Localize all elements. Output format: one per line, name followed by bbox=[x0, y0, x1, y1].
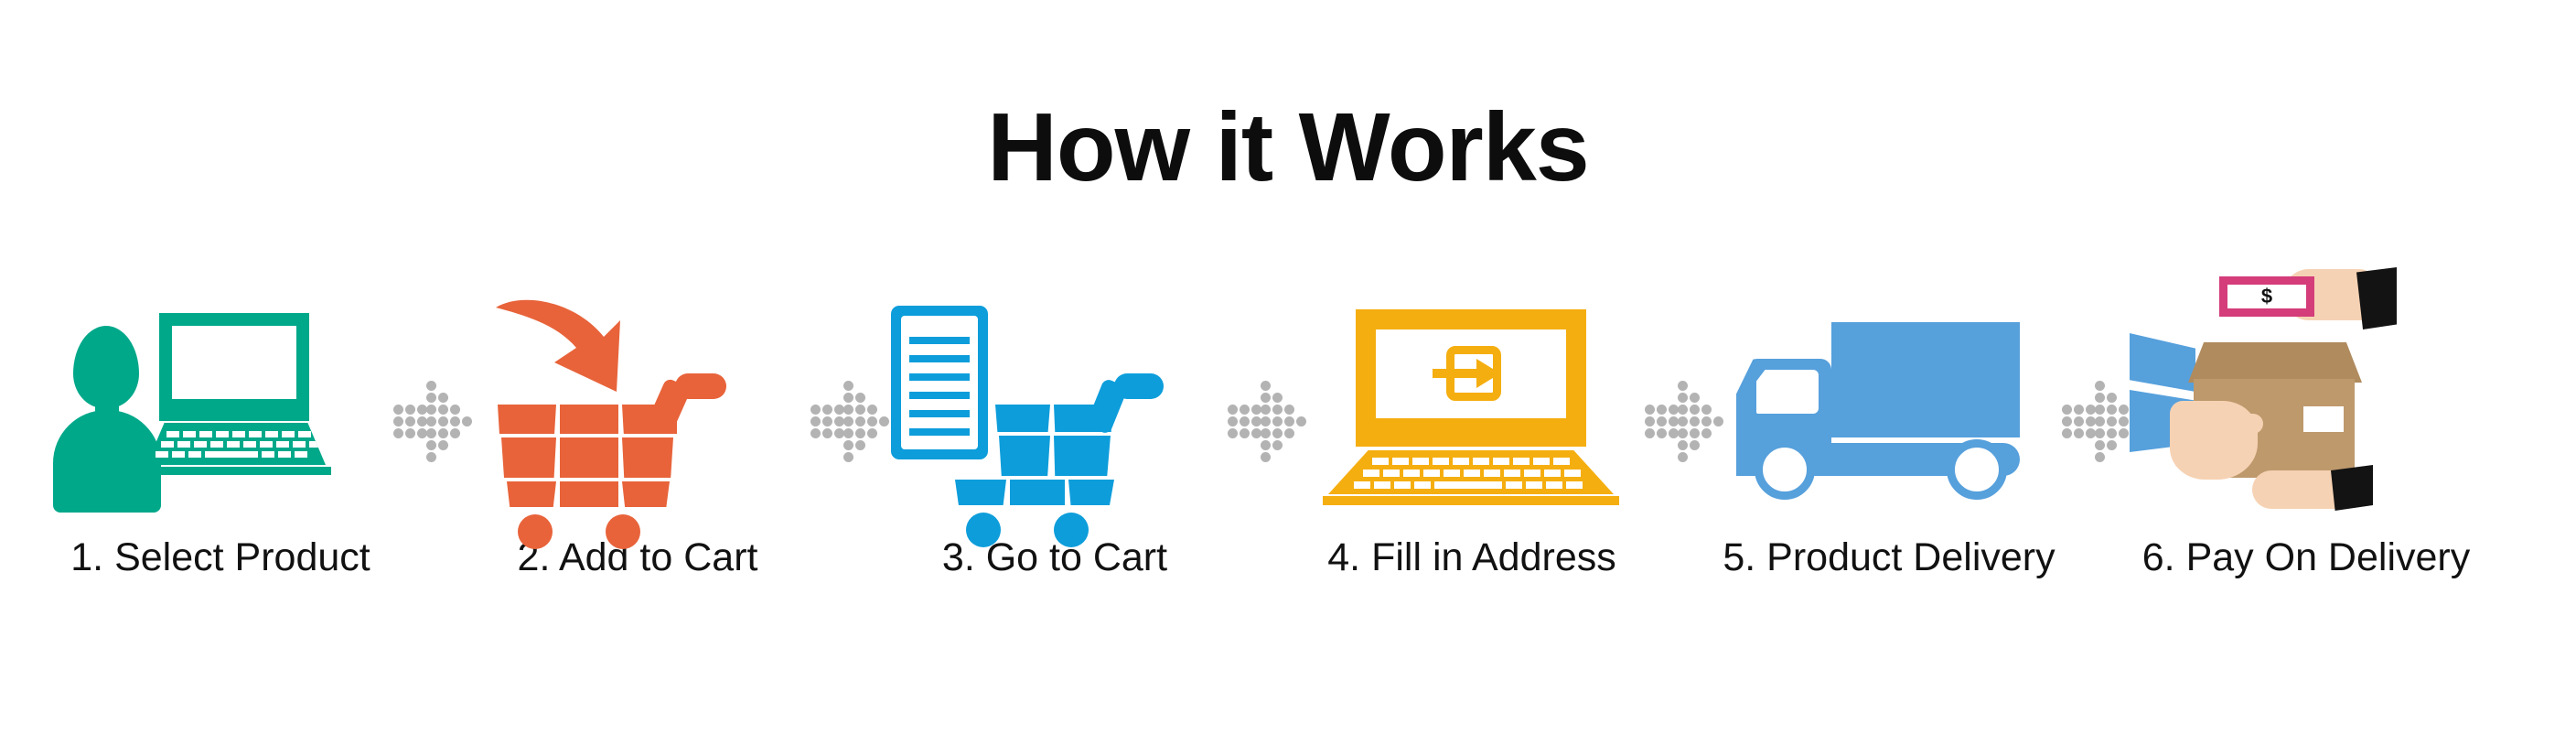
step-6-label: 6. Pay On Delivery bbox=[2142, 538, 2470, 578]
cart-basket-cell bbox=[622, 481, 670, 507]
cart-basket-cell bbox=[995, 405, 1050, 432]
left-hand-thumb bbox=[2212, 414, 2263, 434]
laptop-keyboard-shape bbox=[1328, 450, 1614, 494]
step-3-artwork bbox=[885, 302, 1224, 513]
left-hand-shape bbox=[2170, 401, 2258, 480]
hands-exchanging-box-and-money-icon: $ bbox=[2137, 271, 2475, 527]
dotted-right-arrow-icon bbox=[1645, 381, 1718, 452]
dotted-right-arrow-icon bbox=[810, 381, 884, 452]
document-text-line bbox=[909, 355, 970, 362]
step-1-select-product[interactable]: 1. Select Product bbox=[51, 302, 390, 578]
step-4-artwork bbox=[1303, 302, 1641, 513]
cart-basket-cell bbox=[560, 481, 618, 507]
separator-5 bbox=[2058, 302, 2137, 513]
cart-basket-cell bbox=[955, 480, 1006, 505]
step-6-artwork: $ bbox=[2137, 302, 2475, 513]
laptop-screen-shape bbox=[172, 326, 296, 399]
laptop-base-shape bbox=[1323, 496, 1619, 505]
step-2-label: 2. Add to Cart bbox=[518, 538, 758, 578]
separator-4 bbox=[1641, 302, 1720, 513]
laptop-with-login-arrow-icon bbox=[1303, 302, 1641, 513]
currency-symbol: $ bbox=[2261, 286, 2272, 307]
page-title: How it Works bbox=[0, 95, 2576, 200]
keyboard-row bbox=[1363, 470, 1581, 477]
step-5-artwork bbox=[1720, 302, 2058, 513]
step-6-pay-on-delivery[interactable]: $ 6. Pay On Delivery bbox=[2137, 302, 2475, 578]
step-2-add-to-cart[interactable]: 2. Add to Cart bbox=[468, 302, 807, 578]
truck-wheel-shape bbox=[1755, 439, 1815, 500]
infographic-page: How it Works bbox=[0, 0, 2576, 745]
package-shipping-label bbox=[2303, 406, 2344, 432]
cart-wheel-shape bbox=[1054, 513, 1089, 547]
cart-basket-cell bbox=[1068, 480, 1114, 505]
cart-basket-cell bbox=[498, 405, 556, 434]
cart-handle-shape bbox=[675, 373, 726, 399]
cart-handle-shape bbox=[1114, 373, 1164, 399]
document-text-line bbox=[909, 392, 970, 399]
cart-wheel-shape bbox=[606, 514, 640, 549]
banknote-icon: $ bbox=[2219, 276, 2314, 317]
dotted-right-arrow-icon bbox=[1228, 381, 1301, 452]
separator-3 bbox=[1224, 302, 1303, 513]
separator-1 bbox=[390, 302, 468, 513]
keyboard-row bbox=[1372, 458, 1570, 465]
dotted-right-arrow-icon bbox=[2062, 381, 2135, 452]
delivery-truck-icon bbox=[1720, 302, 2058, 513]
top-right-black-cuff bbox=[2356, 267, 2397, 329]
step-3-go-to-cart[interactable]: 3. Go to Cart bbox=[885, 302, 1224, 578]
person-head-shape bbox=[73, 326, 139, 408]
step-5-label: 5. Product Delivery bbox=[1723, 538, 2055, 578]
person-body-shape bbox=[53, 410, 161, 513]
step-2-artwork bbox=[468, 302, 807, 513]
document-text-line bbox=[909, 337, 970, 344]
keyboard-row bbox=[166, 431, 311, 437]
curved-arrow-icon bbox=[492, 297, 648, 412]
truck-wheel-shape bbox=[1947, 439, 2007, 500]
blue-sleeve-upper bbox=[2130, 333, 2195, 392]
cart-basket-cell bbox=[560, 437, 618, 478]
keyboard-row bbox=[156, 451, 307, 458]
step-4-label: 4. Fill in Address bbox=[1327, 538, 1615, 578]
cart-basket-cell bbox=[1054, 436, 1111, 476]
cart-wheel-shape bbox=[966, 513, 1001, 547]
document-text-line bbox=[909, 373, 970, 381]
cart-basket-cell bbox=[999, 436, 1050, 476]
login-arrow-head bbox=[1476, 359, 1500, 388]
keyboard-row bbox=[1354, 481, 1583, 489]
cart-wheel-shape bbox=[518, 514, 553, 549]
laptop-keyboard-shape bbox=[146, 423, 326, 465]
document-text-line bbox=[909, 410, 970, 417]
step-5-product-delivery[interactable]: 5. Product Delivery bbox=[1720, 302, 2058, 578]
cart-basket-cell bbox=[1010, 480, 1065, 505]
laptop-base-shape bbox=[141, 467, 331, 475]
cart-basket-cell bbox=[507, 481, 556, 507]
truck-cargo-box-shape bbox=[1831, 322, 2020, 437]
dotted-right-arrow-icon bbox=[393, 381, 467, 452]
separator-2 bbox=[807, 302, 885, 513]
truck-window-shape bbox=[1756, 370, 1819, 414]
step-1-artwork bbox=[51, 302, 390, 513]
cart-basket-cell bbox=[622, 437, 673, 478]
shopping-cart-with-arrow-icon bbox=[468, 302, 807, 513]
keyboard-row bbox=[161, 441, 322, 448]
document-text-line bbox=[909, 428, 970, 436]
bottom-right-black-cuff bbox=[2331, 465, 2373, 511]
cart-basket-cell bbox=[501, 437, 556, 478]
person-at-laptop-icon bbox=[51, 302, 390, 513]
document-and-cart-icon bbox=[885, 302, 1224, 513]
cart-basket-cell bbox=[560, 405, 618, 434]
step-1-label: 1. Select Product bbox=[70, 538, 370, 578]
package-top-flap bbox=[2188, 342, 2362, 383]
steps-row: 1. Select Product bbox=[0, 302, 2576, 668]
step-4-fill-in-address[interactable]: 4. Fill in Address bbox=[1303, 302, 1641, 578]
